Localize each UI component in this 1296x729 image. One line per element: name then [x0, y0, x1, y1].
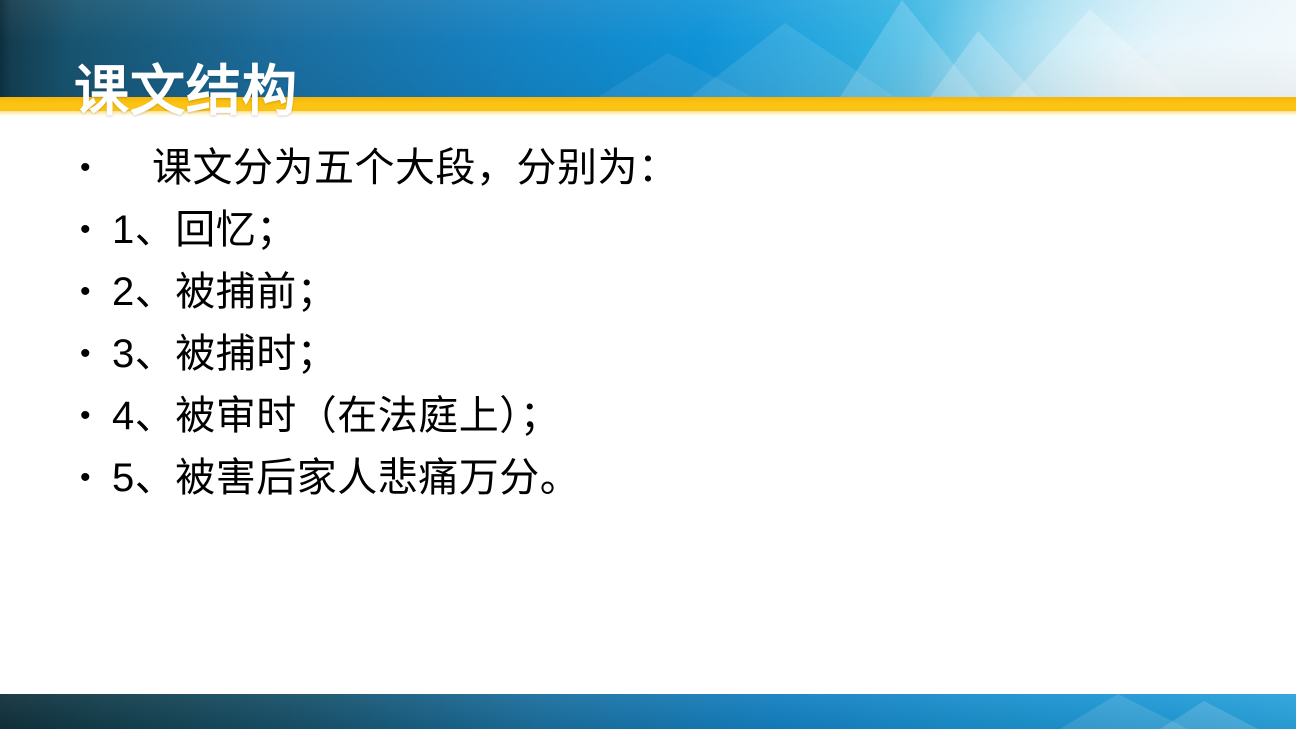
- list-item-text: 2、被捕前；: [112, 264, 1222, 320]
- bullet-point-icon: •: [72, 388, 112, 444]
- list-item: • 3、被捕时；: [72, 326, 1222, 388]
- header-mountain-shape-3: [930, 31, 1038, 97]
- bullet-point-icon: •: [72, 326, 112, 382]
- header-mountain-shape-2: [840, 0, 980, 97]
- list-item-text: 4、被审时（在法庭上）；: [112, 388, 1222, 444]
- list-item-text: 3、被捕时；: [112, 326, 1222, 382]
- header-mountain-shape-4: [1010, 9, 1185, 97]
- footer-sheen-overlay: [0, 694, 1296, 729]
- list-item-text: 1、回忆；: [112, 202, 1222, 258]
- list-item: • 2、被捕前；: [72, 264, 1222, 326]
- list-item-text: 5、被害后家人悲痛万分。: [112, 450, 1222, 506]
- page-title: 课文结构: [74, 58, 298, 124]
- footer-mountain-shape-1: [1060, 694, 1188, 729]
- header-mountain-shape-1: [690, 23, 895, 97]
- bullet-point-icon: •: [72, 202, 112, 258]
- header-light-glow: [916, 0, 1296, 97]
- presentation-slide: 课文结构 • 课文分为五个大段，分别为： • 1、回忆； • 2、被捕前； • …: [0, 0, 1296, 729]
- bullet-point-icon: •: [72, 264, 112, 320]
- list-item: • 4、被审时（在法庭上）；: [72, 388, 1222, 450]
- bullet-point-icon: •: [72, 450, 112, 506]
- header-mountain-shape-5: [598, 53, 753, 97]
- list-item: • 5、被害后家人悲痛万分。: [72, 450, 1222, 512]
- slide-content-area: • 课文分为五个大段，分别为： • 1、回忆； • 2、被捕前； • 3、被捕时…: [0, 116, 1296, 694]
- footer-mountain-shape-2: [1160, 701, 1258, 729]
- header-left-shadow: [0, 0, 10, 97]
- list-item-text: 课文分为五个大段，分别为：: [112, 140, 1222, 196]
- bullet-list: • 课文分为五个大段，分别为： • 1、回忆； • 2、被捕前； • 3、被捕时…: [72, 140, 1222, 512]
- list-item: • 课文分为五个大段，分别为：: [72, 140, 1222, 202]
- list-item: • 1、回忆；: [72, 202, 1222, 264]
- slide-footer-banner: [0, 694, 1296, 729]
- bullet-point-icon: •: [72, 140, 112, 196]
